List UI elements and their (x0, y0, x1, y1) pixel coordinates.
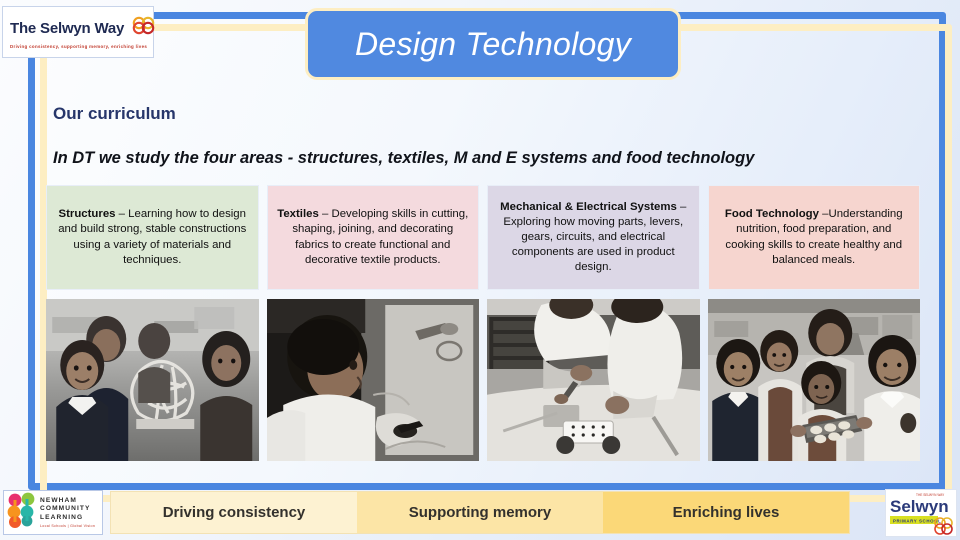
photo-pupils-holding-straw-structure (46, 299, 259, 461)
photo-pupil-sewing-textile-work (267, 299, 480, 461)
selwyn-way-logo: The Selwyn Way Driving consistency, supp… (2, 6, 154, 58)
area-box-title: Textiles (277, 208, 319, 220)
area-box-title: Mechanical & Electrical Systems (500, 201, 677, 213)
page-subtitle: In DT we study the four areas - structur… (53, 149, 754, 168)
selwyn-way-logo-tagline: Driving consistency, supporting memory, … (10, 44, 146, 49)
photo-gallery-row (46, 299, 920, 461)
svg-text:THE SELWYN WAY: THE SELWYN WAY (916, 493, 945, 497)
area-box-mechanical-electrical-systems: Mechanical & Electrical Systems – Explor… (487, 185, 700, 290)
strapline-supporting-memory: Supporting memory (357, 492, 603, 533)
area-box-text: Textiles – Developing skills in cutting,… (277, 207, 470, 267)
strapline-bar: Driving consistency Supporting memory En… (110, 491, 850, 534)
strapline-enriching-lives: Enriching lives (603, 492, 849, 533)
newham-logo-text: NEWHAM COMMUNITY LEARNING Local Schools … (40, 497, 95, 528)
area-box-food-technology: Food Technology –Understanding nutrition… (708, 185, 921, 290)
selwyn-way-logo-title: The Selwyn Way (10, 20, 124, 37)
svg-text:Selwyn: Selwyn (890, 497, 949, 516)
area-box-title: Structures (59, 208, 116, 220)
photo-pupils-with-baking-tray-of-cakes (708, 299, 921, 461)
area-box-dash: – (319, 208, 332, 220)
newham-community-learning-logo: NEWHAM COMMUNITY LEARNING Local Schools … (3, 490, 103, 535)
slide-title: Design Technology (355, 26, 631, 63)
interlocking-rings-icon (130, 16, 158, 41)
slide-canvas: The Selwyn Way Driving consistency, supp… (0, 0, 960, 540)
strapline-driving-consistency: Driving consistency (111, 492, 357, 533)
area-box-text: Mechanical & Electrical Systems – Explor… (497, 200, 690, 275)
slide-title-banner: Design Technology (305, 8, 681, 80)
newham-logo-line-2: COMMUNITY (40, 505, 95, 513)
newham-dots-icon (7, 492, 37, 533)
area-box-textiles: Textiles – Developing skills in cutting,… (267, 185, 480, 290)
area-box-title: Food Technology (725, 208, 819, 220)
page-title: Our curriculum (53, 104, 176, 124)
area-box-body: Exploring how moving parts, levers, gear… (503, 216, 683, 273)
selwyn-primary-school-logo: Selwyn PRIMARY SCHOOL THE SELWYN WAY (885, 489, 957, 537)
newham-logo-line-3: LEARNING (40, 514, 95, 522)
svg-text:PRIMARY SCHOOL: PRIMARY SCHOOL (893, 519, 941, 524)
photo-pupils-making-wheeled-vehicle (487, 299, 700, 461)
newham-logo-line-1: NEWHAM (40, 497, 95, 505)
area-box-text: Structures – Learning how to design and … (56, 207, 249, 267)
area-box-structures: Structures – Learning how to design and … (46, 185, 259, 290)
area-box-text: Food Technology –Understanding nutrition… (718, 207, 911, 267)
newham-logo-tagline: Local Schools | Global Vision (40, 524, 95, 528)
area-box-dash: – (677, 201, 687, 213)
curriculum-areas-row: Structures – Learning how to design and … (46, 185, 920, 290)
area-box-dash: – (116, 208, 129, 220)
selwyn-way-logo-row: The Selwyn Way (10, 16, 146, 41)
